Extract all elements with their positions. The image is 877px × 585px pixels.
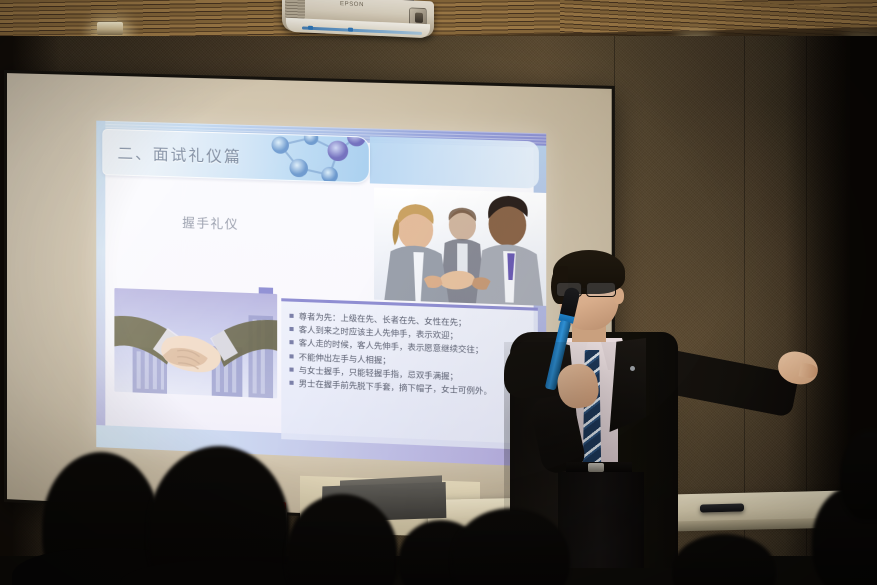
projector-brand-label: EPSON (340, 1, 364, 8)
projector-indicator (348, 28, 353, 32)
projector-vent (285, 0, 305, 20)
lecture-hall-photo: EPSON (0, 0, 877, 585)
presenter-trousers (558, 472, 644, 568)
presenter-belt-buckle (588, 463, 604, 472)
presenter-lapel-pin (630, 366, 635, 371)
male-presenter (500, 246, 830, 566)
projector-indicator (308, 26, 313, 30)
ceiling-projector: EPSON (282, 0, 434, 37)
ceiling-downlight (97, 22, 123, 35)
